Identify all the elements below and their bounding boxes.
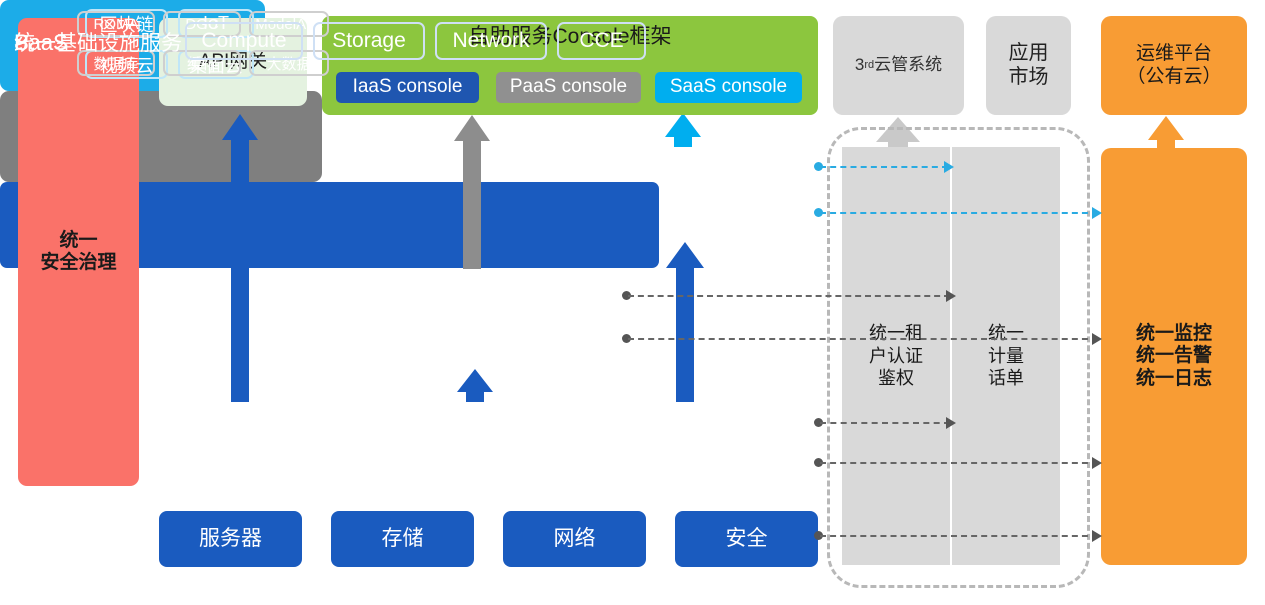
connector-arrow-saas-to-ops xyxy=(1092,207,1102,219)
saas-console-chip[interactable]: SaaS console xyxy=(655,72,802,103)
infra-service-storage[interactable]: Storage xyxy=(313,22,425,60)
unified-security-governance-panel: 统一 安全治理 xyxy=(18,18,139,486)
connector-arrow-saas-to-auth xyxy=(944,161,954,173)
hardware-item-security[interactable]: 安全 xyxy=(675,511,818,567)
arrow-ops-column-to-ops-platform xyxy=(1148,116,1184,148)
arrow-infra-to-saas xyxy=(666,242,704,402)
infrastructure-label: 统一基础设施服务 xyxy=(14,27,182,57)
ops-platform-public-cloud-box: 运维平台 （公有云） xyxy=(1101,16,1247,115)
paas-console-chip[interactable]: PaaS console xyxy=(496,72,641,103)
connector-arrow-infra-to-ops xyxy=(1092,457,1102,469)
third-party-label-suffix: 云管系统 xyxy=(874,55,942,75)
connector-arrow-infra-to-auth xyxy=(946,417,956,429)
third-party-cloud-management-box: 3rd云管系统 xyxy=(833,16,964,115)
connector-saas-to-auth xyxy=(820,166,948,168)
connector-arrow-paas-to-ops xyxy=(1092,333,1102,345)
unified-tenant-auth-column: 统一租 户认证 鉴权 xyxy=(842,147,950,565)
hardware-item-server[interactable]: 服务器 xyxy=(159,511,302,567)
infra-service-network[interactable]: Network xyxy=(435,22,547,60)
connector-saas-to-ops xyxy=(820,212,1098,214)
third-party-label-prefix: 3 xyxy=(855,55,864,75)
connector-arrow-paas-to-auth xyxy=(946,290,956,302)
hardware-item-network[interactable]: 网络 xyxy=(503,511,646,567)
unified-metering-billing-column: 统一 计量 话单 xyxy=(952,147,1060,565)
application-market-box: 应用 市场 xyxy=(986,16,1071,115)
architecture-diagram: 统一 安全治理 API网关 自助服务Console框架 IaaS console… xyxy=(0,0,1265,605)
arrow-infra-to-paas xyxy=(457,369,493,402)
third-party-label-sup: rd xyxy=(864,59,874,72)
arrow-saas-to-saas-console xyxy=(665,113,701,147)
connector-paas-to-ops xyxy=(628,338,1098,340)
connector-arrow-hardware-to-ops xyxy=(1092,530,1102,542)
iaas-console-chip[interactable]: IaaS console xyxy=(336,72,479,103)
connector-paas-to-auth xyxy=(628,295,950,297)
connector-hardware-to-ops xyxy=(820,535,1098,537)
infra-service-compute[interactable]: Compute xyxy=(185,22,303,60)
hardware-item-storage[interactable]: 存储 xyxy=(331,511,474,567)
infra-service-cce[interactable]: CCE xyxy=(557,22,646,60)
connector-infra-to-ops xyxy=(820,462,1098,464)
connector-infra-to-auth xyxy=(820,422,950,424)
unified-monitoring-alarm-log-column: 统一监控 统一告警 统一日志 xyxy=(1101,148,1247,565)
